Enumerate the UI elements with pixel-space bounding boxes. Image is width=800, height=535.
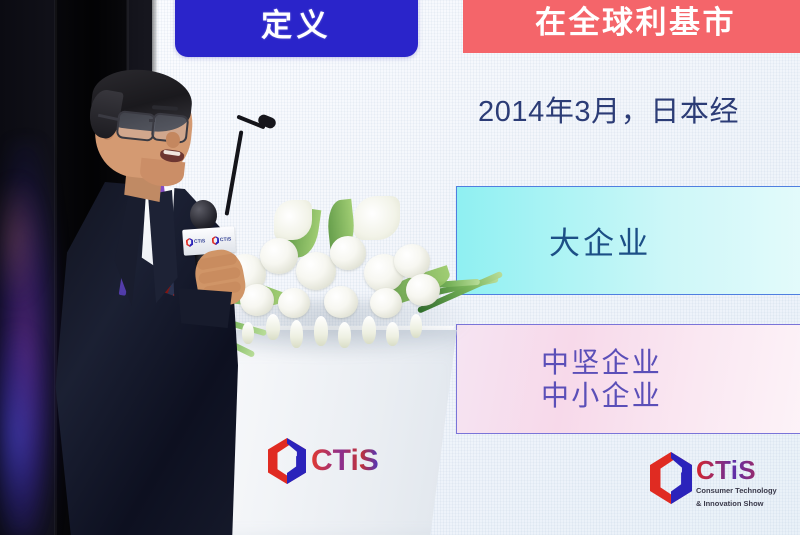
wall-seam-left: [54, 0, 57, 535]
slide-banner-label: 在全球利基市: [535, 0, 736, 42]
ctis-logo-podium: CTiS: [268, 437, 408, 485]
stage-light-glow-blue: [0, 330, 46, 535]
eyeglasses-lens-left-icon: [116, 110, 157, 142]
ctis-tagline-line-2: & Innovation Show: [696, 499, 777, 509]
ctis-wordmark: CTiS: [696, 457, 777, 483]
slide-paragraph-date: 2014年3月，日本经: [478, 88, 800, 130]
slide-chip-definition-label: 定义: [261, 0, 332, 45]
slide-box-sme-label-2: 中小企业: [541, 379, 662, 412]
ctis-logo-bottom-right: CTiS Consumer Technology & Innovation Sh…: [650, 452, 790, 514]
hexagon-c-logo-icon: [268, 438, 306, 484]
slide-box-sme-label-1: 中坚企业: [541, 346, 662, 379]
hexagon-c-logo-icon: [212, 236, 220, 245]
slide-box-large-enterprise-label: 大企业: [549, 218, 651, 263]
photo-stage: 定义 在全球利基市 2014年3月，日本经 认定条件 大企业 中坚企业 中小企业…: [0, 0, 800, 535]
mic-flag-wordmark-2: CTiS: [220, 236, 232, 243]
slide-banner-global-niche: 在全球利基市: [463, 0, 800, 53]
podium-wordmark: CTiS: [311, 446, 379, 476]
eyeglasses-bridge: [149, 119, 155, 122]
slide-box-large-enterprise: 大企业: [456, 186, 800, 295]
slide-box-sme: 中坚企业 中小企业: [456, 324, 800, 434]
ctis-tagline-line-1: Consumer Technology: [696, 486, 777, 496]
speaker-nose: [166, 132, 180, 148]
hexagon-c-logo-icon: [650, 452, 692, 504]
slide-chip-definition: 定义: [175, 0, 418, 57]
mic-flag-wordmark-1: CTiS: [194, 238, 206, 245]
stage-light-glow-warm: [0, 180, 40, 300]
speaker-sleeve-cuff: [178, 288, 232, 328]
hexagon-c-logo-icon: [186, 238, 194, 247]
